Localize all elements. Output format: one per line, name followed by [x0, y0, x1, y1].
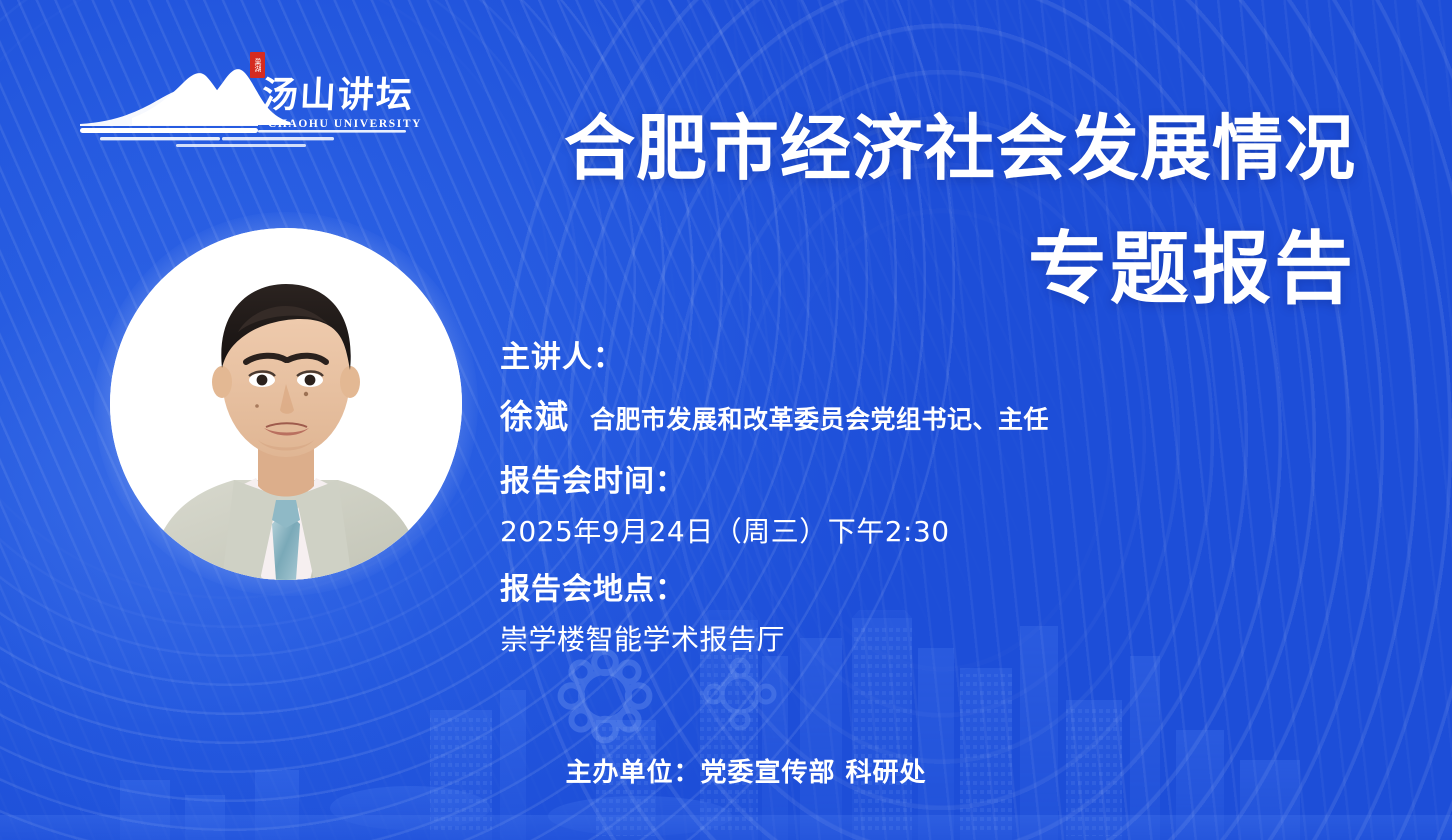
speaker-row: 徐斌 合肥市发展和改革委员会党组书记、主任	[500, 390, 1380, 438]
speaker-title: 合肥市发展和改革委员会党组书记、主任	[590, 400, 1049, 436]
page-title: 合肥市经济社会发展情况 专题报告	[396, 112, 1356, 310]
speaker-label: 主讲人：	[500, 340, 1380, 376]
logo-chinese-name: 汤山讲坛	[261, 66, 416, 118]
time-label: 报告会时间：	[500, 464, 1380, 500]
portrait-photo	[110, 228, 462, 580]
speaker-name: 徐斌	[500, 390, 570, 438]
headline-line-1: 合肥市经济社会发展情况	[396, 112, 1356, 186]
event-details: 主讲人： 徐斌 合肥市发展和改革委员会党组书记、主任 报告会时间： 2025年9…	[500, 340, 1380, 658]
headline-line-2: 专题报告	[396, 228, 1356, 310]
footer: 主办单位：党委宣传部 科研处	[0, 752, 1452, 789]
time-value: 2025年9月24日（周三）下午2:30	[500, 510, 1380, 550]
portrait-illustration	[110, 228, 462, 580]
organizer-text: 主办单位：党委宣传部 科研处	[525, 752, 926, 789]
logo-seal-text: 巢湖	[254, 58, 261, 72]
chinese-knot-motif-icon-2	[690, 644, 790, 744]
place-label: 报告会地点：	[500, 572, 1380, 608]
poster-canvas: 巢湖 汤山讲坛 CHAOHU UNIVERSITY 合肥市经济社会发展情况 专题…	[0, 0, 1452, 840]
place-value: 崇学楼智能学术报告厅	[500, 618, 1380, 658]
brand-logo: 巢湖 汤山讲坛 CHAOHU UNIVERSITY	[72, 52, 412, 148]
speaker-portrait	[110, 228, 462, 580]
